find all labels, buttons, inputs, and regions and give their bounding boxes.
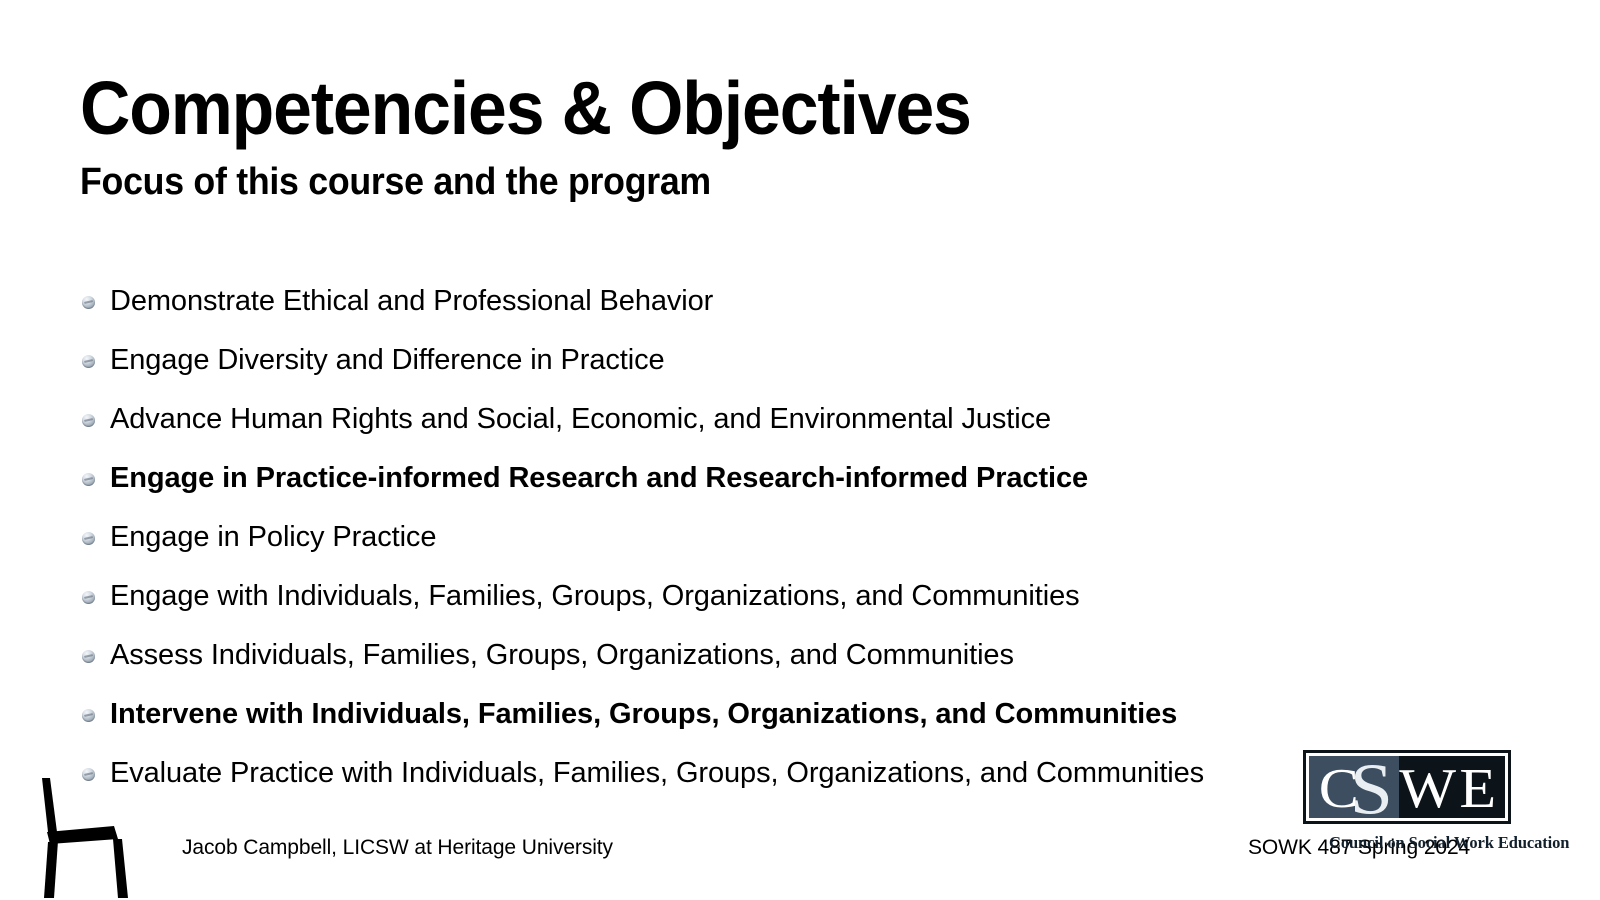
- svg-text:W: W: [1399, 757, 1456, 818]
- chair-illustration-icon: [28, 770, 132, 900]
- title-block: Competencies & Objectives Focus of this …: [80, 72, 1380, 201]
- sphere-bullet-icon: [82, 650, 95, 663]
- cswe-wordmark: C W E S: [1309, 756, 1505, 818]
- sphere-bullet-icon: [82, 591, 95, 604]
- list-item-label: Engage Diversity and Difference in Pract…: [110, 346, 665, 375]
- list-item: Intervene with Individuals, Families, Gr…: [80, 685, 1510, 744]
- list-item-label: Engage with Individuals, Families, Group…: [110, 582, 1080, 611]
- sphere-bullet-icon: [82, 473, 95, 486]
- list-item-label: Engage in Policy Practice: [110, 523, 436, 552]
- list-item: Advance Human Rights and Social, Economi…: [80, 390, 1510, 449]
- sphere-bullet-icon: [82, 355, 95, 368]
- svg-text:E: E: [1459, 757, 1496, 818]
- competency-list: Demonstrate Ethical and Professional Beh…: [80, 272, 1510, 803]
- list-item: Demonstrate Ethical and Professional Beh…: [80, 272, 1510, 331]
- list-item: Engage with Individuals, Families, Group…: [80, 567, 1510, 626]
- svg-text:S: S: [1350, 756, 1393, 818]
- slide-canvas: Competencies & Objectives Focus of this …: [0, 0, 1600, 900]
- cswe-tagline-row: Council on Social Work Education: [1303, 833, 1511, 853]
- page-title: Competencies & Objectives: [80, 72, 1289, 146]
- list-item-label: Evaluate Practice with Individuals, Fami…: [110, 759, 1204, 788]
- list-item: Engage in Practice-informed Research and…: [80, 449, 1510, 508]
- sphere-bullet-icon: [82, 296, 95, 309]
- sphere-bullet-icon: [82, 532, 95, 545]
- list-item: Engage in Policy Practice: [80, 508, 1510, 567]
- sphere-bullet-icon: [82, 414, 95, 427]
- list-item-label: Demonstrate Ethical and Professional Beh…: [110, 287, 713, 316]
- cswe-logo: C W E S Council on Social Work Education: [1303, 750, 1511, 853]
- sphere-bullet-icon: [82, 709, 95, 722]
- list-item: Engage Diversity and Difference in Pract…: [80, 331, 1510, 390]
- list-item-label: Engage in Practice-informed Research and…: [110, 464, 1088, 493]
- list-item-label: Intervene with Individuals, Families, Gr…: [110, 700, 1177, 729]
- page-subtitle: Focus of this course and the program: [80, 163, 1302, 201]
- list-item-label: Assess Individuals, Families, Groups, Or…: [110, 641, 1014, 670]
- footer-author-label: Jacob Campbell, LICSW at Heritage Univer…: [182, 836, 613, 860]
- cswe-tagline: Council on Social Work Education: [1329, 833, 1569, 852]
- cswe-logo-mark: C W E S: [1303, 750, 1511, 824]
- list-item-label: Advance Human Rights and Social, Economi…: [110, 405, 1051, 434]
- list-item: Assess Individuals, Families, Groups, Or…: [80, 626, 1510, 685]
- cswe-logo-panels: C W E S: [1309, 756, 1505, 818]
- list-item: Evaluate Practice with Individuals, Fami…: [80, 744, 1510, 803]
